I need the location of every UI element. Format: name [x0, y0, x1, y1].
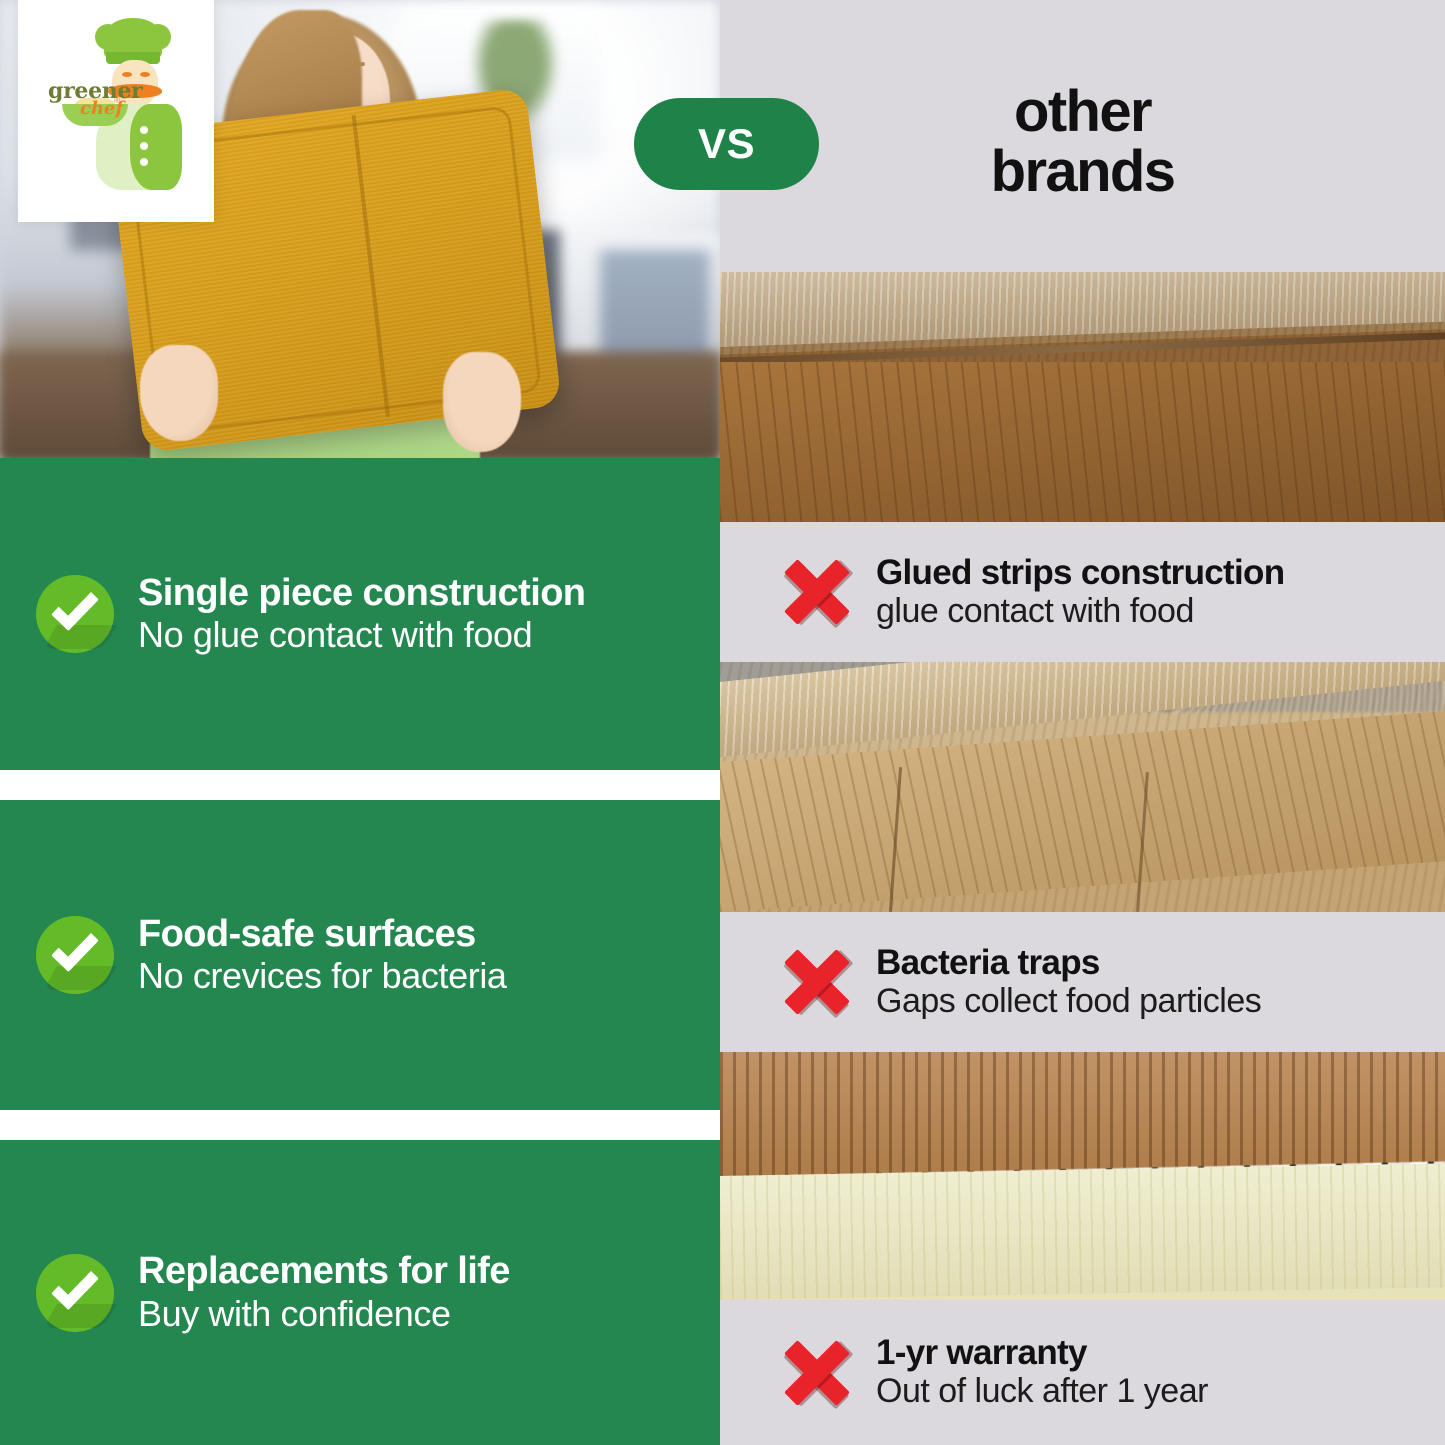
feature-text-1: Single piece construction No glue contac… [138, 572, 585, 656]
comparison-infographic: greener chef ® Single piece construction… [0, 0, 1445, 1445]
bamboo-photo-1 [720, 272, 1445, 522]
feature-row-2: Food-safe surfaces No crevices for bacte… [0, 800, 720, 1110]
feature-title: Single piece construction [138, 572, 585, 615]
feature-text-3: Replacements for life Buy with confidenc… [138, 1250, 510, 1334]
drawback-text-1: Glued strips construction glue contact w… [876, 553, 1284, 632]
feature-title: Replacements for life [138, 1250, 510, 1293]
chef-button-bottom [140, 158, 148, 166]
drawback-text-2: Bacteria traps Gaps collect food particl… [876, 943, 1261, 1022]
other-brands-line1: other [1014, 79, 1151, 144]
drawback-text-3: 1-yr warranty Out of luck after 1 year [876, 1333, 1208, 1412]
bamboo-dark-layer [720, 1052, 1445, 1176]
hero-photo: greener chef ® [0, 0, 720, 458]
x-icon [780, 945, 854, 1019]
x-icon [780, 1336, 854, 1410]
drawback-title: Bacteria traps [876, 943, 1261, 982]
check-shadow [43, 1304, 117, 1328]
other-brands-title: other brands [720, 82, 1445, 203]
vs-label: VS [698, 120, 755, 168]
feature-text-2: Food-safe surfaces No crevices for bacte… [138, 913, 507, 997]
girl-hand-left [140, 345, 218, 441]
other-brands-header: other brands [720, 0, 1445, 272]
other-brands-line2: brands [991, 139, 1175, 204]
feature-subtitle: No glue contact with food [138, 614, 585, 656]
drawback-row-3: 1-yr warranty Out of luck after 1 year [720, 1300, 1445, 1445]
right-column-other-brands: other brands Glued strips construction g… [720, 0, 1445, 1445]
chef-eye-left [122, 72, 132, 77]
feature-row-1: Single piece construction No glue contac… [0, 458, 720, 770]
drawback-title: Glued strips construction [876, 553, 1284, 592]
check-icon [36, 1254, 114, 1332]
feature-subtitle: No crevices for bacteria [138, 955, 507, 997]
drawback-subtitle: Out of luck after 1 year [876, 1372, 1208, 1411]
girl-hand-right [443, 352, 521, 452]
bamboo-photo-3 [720, 1052, 1445, 1300]
bamboo-light-layer [720, 1163, 1445, 1300]
bamboo-glued-strips [720, 362, 1445, 522]
drawback-subtitle: Gaps collect food particles [876, 982, 1261, 1021]
check-icon [36, 575, 114, 653]
feature-subtitle: Buy with confidence [138, 1293, 510, 1335]
vs-badge: VS [634, 98, 819, 190]
x-icon [780, 555, 854, 629]
drawback-row-1: Glued strips construction glue contact w… [720, 522, 1445, 662]
chef-coat-lapel [130, 104, 182, 190]
chef-eye-right [140, 72, 150, 77]
chef-button-middle [140, 142, 148, 150]
drawback-subtitle: glue contact with food [876, 592, 1284, 631]
feature-row-3: Replacements for life Buy with confidenc… [0, 1140, 720, 1445]
drawback-title: 1-yr warranty [876, 1333, 1208, 1372]
feature-title: Food-safe surfaces [138, 913, 507, 956]
logo-registered-mark: ® [114, 96, 120, 105]
check-shadow [43, 625, 117, 649]
bamboo-photo-2 [720, 662, 1445, 912]
chef-button-top [140, 126, 148, 134]
drawback-row-2: Bacteria traps Gaps collect food particl… [720, 912, 1445, 1052]
check-icon [36, 916, 114, 994]
brand-logo-card: greener chef ® [18, 0, 214, 222]
check-shadow [43, 966, 117, 990]
left-column-greener-chef: greener chef ® Single piece construction… [0, 0, 720, 1445]
